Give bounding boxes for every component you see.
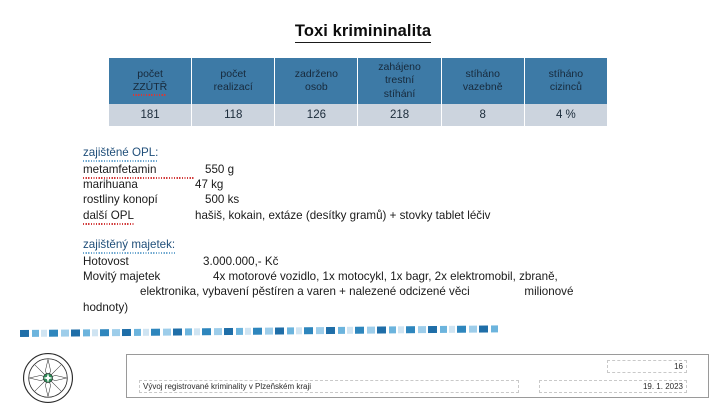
header-line-2: cizinců	[526, 81, 606, 94]
page-title: Toxi krimininalita	[295, 22, 431, 43]
table-header-cell-zadrzeno-osob: zadrženo osob	[275, 58, 357, 104]
opl-value: hašiš, kokain, extáze (desítky gramů) + …	[195, 208, 713, 223]
opl-label: rostliny konopí	[83, 192, 195, 207]
opl-row-marihuana: marihuana 47 kg	[83, 177, 713, 192]
table-header-cell-pocet-zzutr: počet ZZÚTŘ	[109, 58, 191, 104]
opl-row-metamfetamin: metamfetamin 550 g	[83, 162, 713, 177]
opl-label: metamfetamin	[83, 162, 195, 177]
table-header-cell-stihano-cizincu: stíháno cizinců	[525, 58, 607, 104]
table-cell-zahajeno-trestni-stihani: 218	[358, 104, 440, 126]
footer-date[interactable]: 19. 1. 2023	[539, 380, 687, 393]
footer-frame: 16 Vývoj registrované kriminality v Plze…	[126, 354, 709, 398]
table-cell-pocet-zzutr: 181	[109, 104, 191, 126]
police-logo	[22, 352, 74, 404]
table-cell-stihano-cizincu: 4 %	[525, 104, 607, 126]
opl-row-dalsi-opl: další OPL hašiš, kokain, extáze (desítky…	[83, 208, 713, 223]
page-title-container: Toxi krimininalita	[0, 22, 726, 43]
opl-label: další OPL	[83, 208, 134, 223]
opl-value: 550 g	[195, 162, 713, 177]
section-spacer	[83, 223, 713, 238]
header-line-1: stíháno	[443, 68, 523, 81]
police-emblem-icon	[22, 352, 74, 404]
opl-row-rostliny-konopi: rostliny konopí 500 ks	[83, 192, 713, 207]
footer-page-number[interactable]: 16	[607, 360, 687, 373]
table-header-cell-stihano-vazebne: stíháno vazebně	[442, 58, 524, 104]
majetek-row-movity-majetek: Movitý majetek 4x motorové vozidlo, 1x m…	[83, 269, 713, 284]
majetek-continuation-line: elektronika, vybavení pěstíren a varen +…	[83, 284, 713, 299]
footer-text[interactable]: Vývoj registrované kriminality v Plzeňsk…	[139, 380, 519, 393]
opl-label: marihuana	[83, 177, 195, 192]
opl-value: 500 ks	[195, 192, 713, 207]
header-line-1: počet	[110, 68, 190, 81]
majetek-value: 3.000.000,- Kč	[203, 254, 713, 269]
header-line-2: vazebně	[443, 81, 523, 94]
opl-section: zajištěné OPL: metamfetamin 550 g marihu…	[83, 146, 713, 223]
majetek-section: zajištěný majetek: Hotovost 3.000.000,- …	[83, 238, 713, 315]
majetek-value: 4x motorové vozidlo, 1x motocykl, 1x bag…	[203, 269, 713, 284]
header-line-2: ZZÚTŘ	[133, 81, 167, 94]
opl-section-heading: zajištěné OPL:	[83, 146, 158, 161]
majetek-tail-line: hodnoty)	[83, 300, 713, 315]
table-cell-zadrzeno-osob: 126	[275, 104, 357, 126]
header-line-1: počet	[193, 68, 273, 81]
slide-canvas: Toxi krimininalita počet ZZÚTŘ počet rea…	[0, 0, 726, 407]
majetek-row-hotovost: Hotovost 3.000.000,- Kč	[83, 254, 713, 269]
header-line-3: stíhání	[359, 88, 439, 101]
table-header-cell-zahajeno-trestni-stihani: zahájeno trestní stíhání	[358, 58, 440, 104]
majetek-label: Hotovost	[83, 254, 203, 269]
table-header-row: počet ZZÚTŘ počet realizací zadrženo oso…	[109, 58, 607, 104]
decorative-stripe	[20, 325, 500, 337]
header-line-1: zahájeno	[359, 61, 439, 74]
header-line-1: stíháno	[526, 68, 606, 81]
header-line-2: osob	[276, 81, 356, 94]
table-header-cell-pocet-realizaci: počet realizací	[192, 58, 274, 104]
header-line-2: realizací	[193, 81, 273, 94]
table-cell-stihano-vazebne: 8	[442, 104, 524, 126]
body-content: zajištěné OPL: metamfetamin 550 g marihu…	[83, 146, 713, 315]
statistics-table: počet ZZÚTŘ počet realizací zadrženo oso…	[108, 58, 608, 126]
table-cell-pocet-realizaci: 118	[192, 104, 274, 126]
header-line-2: trestní	[359, 74, 439, 87]
majetek-label: Movitý majetek	[83, 269, 203, 284]
majetek-section-heading: zajištěný majetek:	[83, 238, 175, 253]
table-row: 181 118 126 218 8 4 %	[109, 104, 607, 126]
header-line-1: zadrženo	[276, 68, 356, 81]
opl-value: 47 kg	[195, 177, 713, 192]
